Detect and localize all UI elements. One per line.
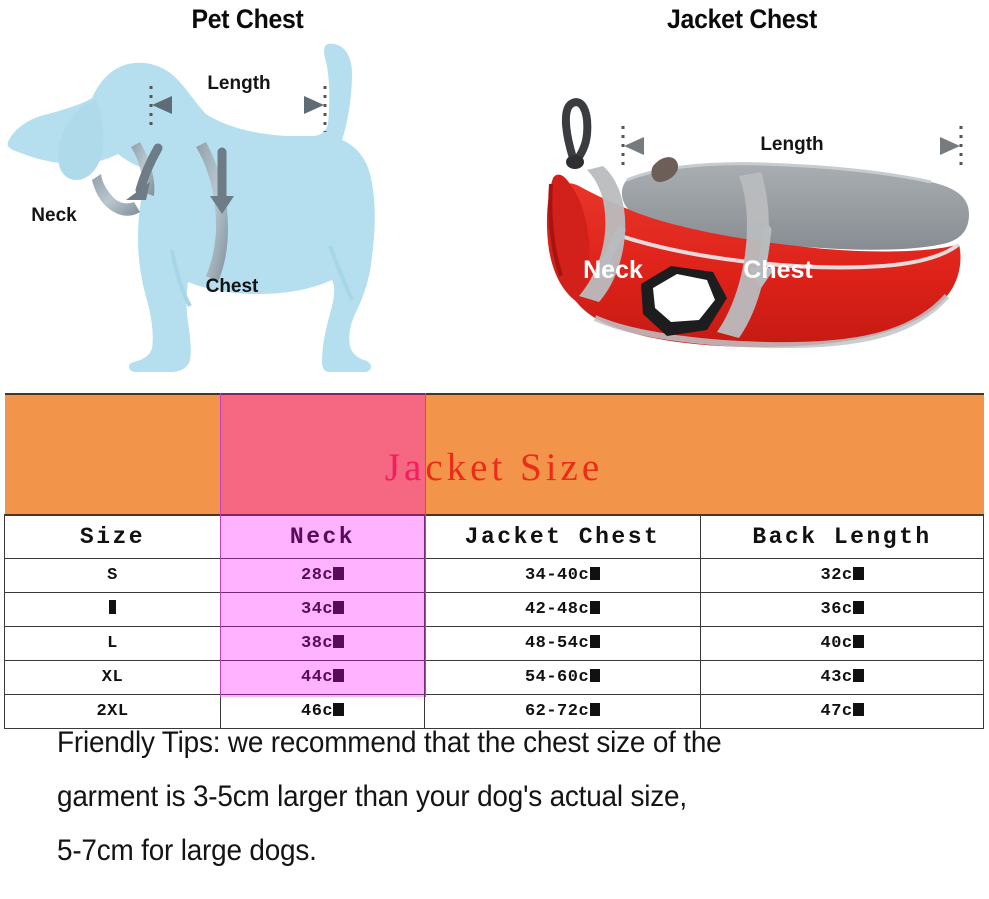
header-neck: Neck	[221, 515, 425, 559]
table-header-row: Size Neck Jacket Chest Back Length	[5, 515, 984, 559]
missing-glyph-box	[333, 669, 344, 682]
diagram-panels: Pet Chest	[0, 0, 989, 388]
missing-glyph-box	[590, 567, 601, 580]
chest-label-left: Chest	[206, 276, 259, 297]
cell-size: S	[5, 559, 221, 593]
cell-size: XL	[5, 661, 221, 695]
header-chest: Jacket Chest	[425, 515, 701, 559]
cell-chest: 34-40c	[425, 559, 701, 593]
table-row: 34c 42-48c 36c	[5, 593, 984, 627]
missing-glyph-box	[853, 669, 864, 682]
pet-chest-panel: Pet Chest	[0, 0, 495, 388]
header-size: Size	[5, 515, 221, 559]
handle-loop	[566, 102, 587, 169]
cell-chest: 42-48c	[425, 593, 701, 627]
cell-neck: 28c	[221, 559, 425, 593]
missing-glyph-box	[853, 703, 864, 716]
cell-chest: 54-60c	[425, 661, 701, 695]
cell-back: 32c	[701, 559, 984, 593]
missing-glyph-box	[853, 567, 864, 580]
table-row: XL 44c 54-60c 43c	[5, 661, 984, 695]
friendly-tips: Friendly Tips: we recommend that the che…	[57, 716, 894, 878]
cell-size	[5, 593, 221, 627]
pet-diagram: Length Neck Chest	[0, 0, 495, 388]
tips-line-2: garment is 3-5cm larger than your dog's …	[57, 770, 894, 824]
cell-neck: 46c	[221, 695, 425, 729]
header-back: Back Length	[701, 515, 984, 559]
cell-chest: 62-72c	[425, 695, 701, 729]
missing-glyph-box	[590, 635, 601, 648]
cell-back: 36c	[701, 593, 984, 627]
neck-label-right: Neck	[583, 256, 643, 284]
table-row: S 28c 34-40c 32c	[5, 559, 984, 593]
cell-back: 40c	[701, 627, 984, 661]
table-banner-cell: Jacket Size	[5, 394, 984, 515]
cell-chest: 48-54c	[425, 627, 701, 661]
size-chart-page: Pet Chest	[0, 0, 989, 899]
tips-line-3: 5-7cm for large dogs.	[57, 824, 894, 878]
cell-size: L	[5, 627, 221, 661]
missing-glyph-box	[333, 703, 344, 716]
length-label-right: Length	[760, 134, 823, 155]
missing-glyph-box	[590, 601, 601, 614]
missing-glyph-box	[853, 635, 864, 648]
table-banner-row: Jacket Size	[5, 394, 984, 515]
missing-glyph-box	[590, 669, 601, 682]
missing-glyph-box	[590, 703, 601, 716]
cell-size: 2XL	[5, 695, 221, 729]
size-table-wrapper: Jacket Size Size Neck Jacket Chest Back …	[4, 393, 983, 699]
table-row: L 38c 48-54c 40c	[5, 627, 984, 661]
missing-glyph-box	[333, 635, 344, 648]
jacket-size-title: Jacket Size	[5, 395, 984, 514]
cell-neck: 44c	[221, 661, 425, 695]
length-label-left: Length	[207, 73, 270, 94]
cell-neck: 38c	[221, 627, 425, 661]
jacket-diagram: Length Neck Chest	[495, 0, 989, 388]
cell-back: 47c	[701, 695, 984, 729]
chest-label-right: Chest	[743, 256, 813, 284]
size-table: Jacket Size Size Neck Jacket Chest Back …	[4, 393, 984, 729]
missing-glyph-box	[109, 600, 116, 615]
missing-glyph-box	[853, 601, 864, 614]
jacket-chest-panel: Jacket Chest	[495, 0, 989, 388]
cell-back: 43c	[701, 661, 984, 695]
cell-neck: 34c	[221, 593, 425, 627]
neck-label-left: Neck	[31, 205, 77, 226]
missing-glyph-box	[333, 601, 344, 614]
missing-glyph-box	[333, 567, 344, 580]
table-row: 2XL 46c 62-72c 47c	[5, 695, 984, 729]
